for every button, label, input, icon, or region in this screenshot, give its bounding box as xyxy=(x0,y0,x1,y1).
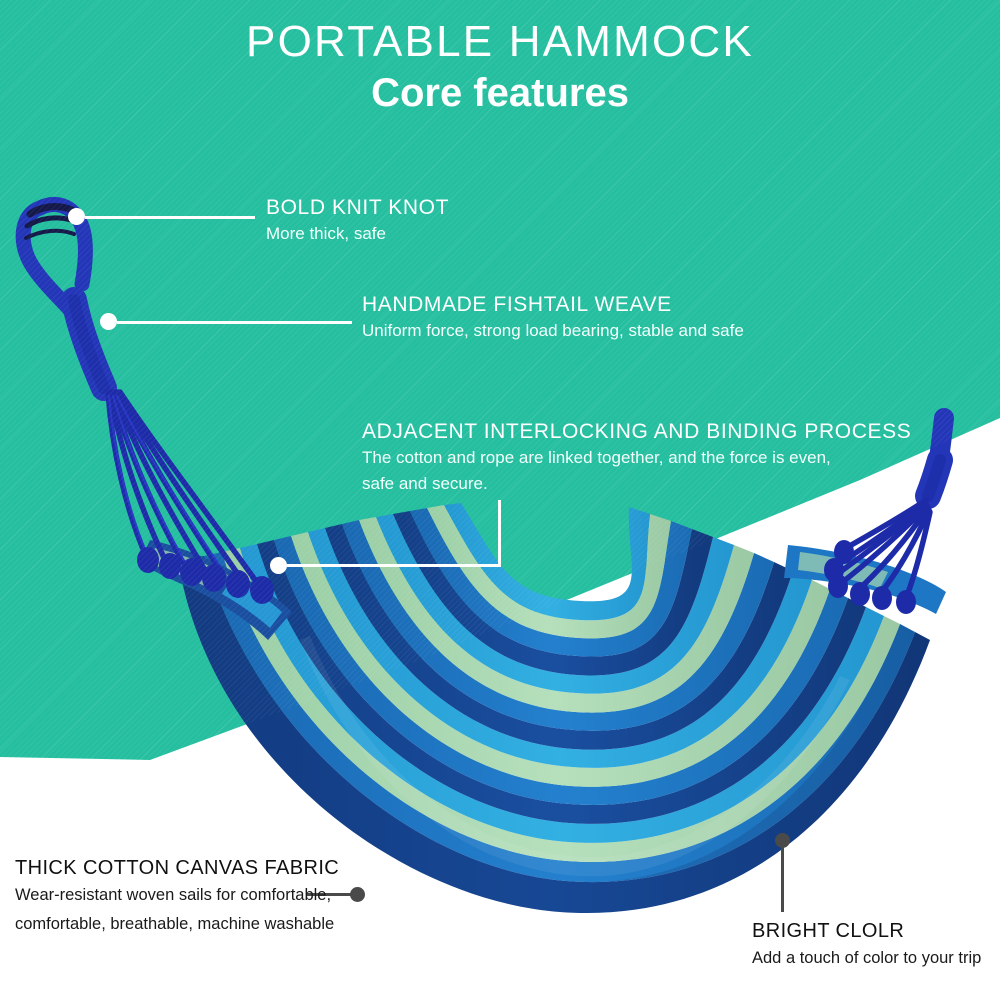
leader-line-bright-color xyxy=(781,840,784,912)
page-title: PORTABLE HAMMOCK Core features xyxy=(0,18,1000,116)
leader-line-bold-knit-knot xyxy=(85,216,255,219)
callout-body-bright-color: Add a touch of color to your trip xyxy=(752,944,981,973)
leader-dot-fishtail-weave xyxy=(100,313,117,330)
callout-body-adjacent-interlocking: The cotton and rope are linked together,… xyxy=(362,445,862,496)
callout-body-bold-knit-knot: More thick, safe xyxy=(266,221,449,247)
callout-heading-adjacent-interlocking: ADJACENT INTERLOCKING AND BINDING PROCES… xyxy=(362,419,911,445)
callout-heading-fishtail-weave: HANDMADE FISHTAIL WEAVE xyxy=(362,292,744,318)
callout-heading-thick-cotton: THICK COTTON CANVAS FABRIC xyxy=(15,855,339,881)
callout-body-fishtail-weave: Uniform force, strong load bearing, stab… xyxy=(362,318,744,344)
leader-line-adjacent-horizontal xyxy=(287,564,501,567)
infographic-canvas: PORTABLE HAMMOCK Core features BOLD KNIT… xyxy=(0,0,1000,1000)
callout-bright-color: BRIGHT CLOLR Add a touch of color to you… xyxy=(752,918,981,973)
callout-bold-knit-knot: BOLD KNIT KNOT More thick, safe xyxy=(266,195,449,247)
leader-dot-thick-cotton xyxy=(350,887,365,902)
leader-dot-bold-knit-knot xyxy=(68,208,85,225)
callout-handmade-fishtail-weave: HANDMADE FISHTAIL WEAVE Uniform force, s… xyxy=(362,292,744,344)
leader-line-fishtail-weave xyxy=(117,321,352,324)
leader-dot-adjacent-interlocking xyxy=(270,557,287,574)
callout-body-thick-cotton-line2: comfortable, breathable, machine washabl… xyxy=(15,910,339,939)
callout-adjacent-interlocking: ADJACENT INTERLOCKING AND BINDING PROCES… xyxy=(362,419,911,496)
callout-thick-cotton-canvas-fabric: THICK COTTON CANVAS FABRIC Wear-resistan… xyxy=(15,855,339,939)
callout-heading-bright-color: BRIGHT CLOLR xyxy=(752,918,981,944)
callout-body-thick-cotton-line1: Wear-resistant woven sails for comfortab… xyxy=(15,881,339,910)
title-main: PORTABLE HAMMOCK xyxy=(0,18,1000,66)
leader-line-adjacent-vertical xyxy=(498,500,501,566)
callout-heading-bold-knit-knot: BOLD KNIT KNOT xyxy=(266,195,449,221)
title-subtitle: Core features xyxy=(0,70,1000,116)
